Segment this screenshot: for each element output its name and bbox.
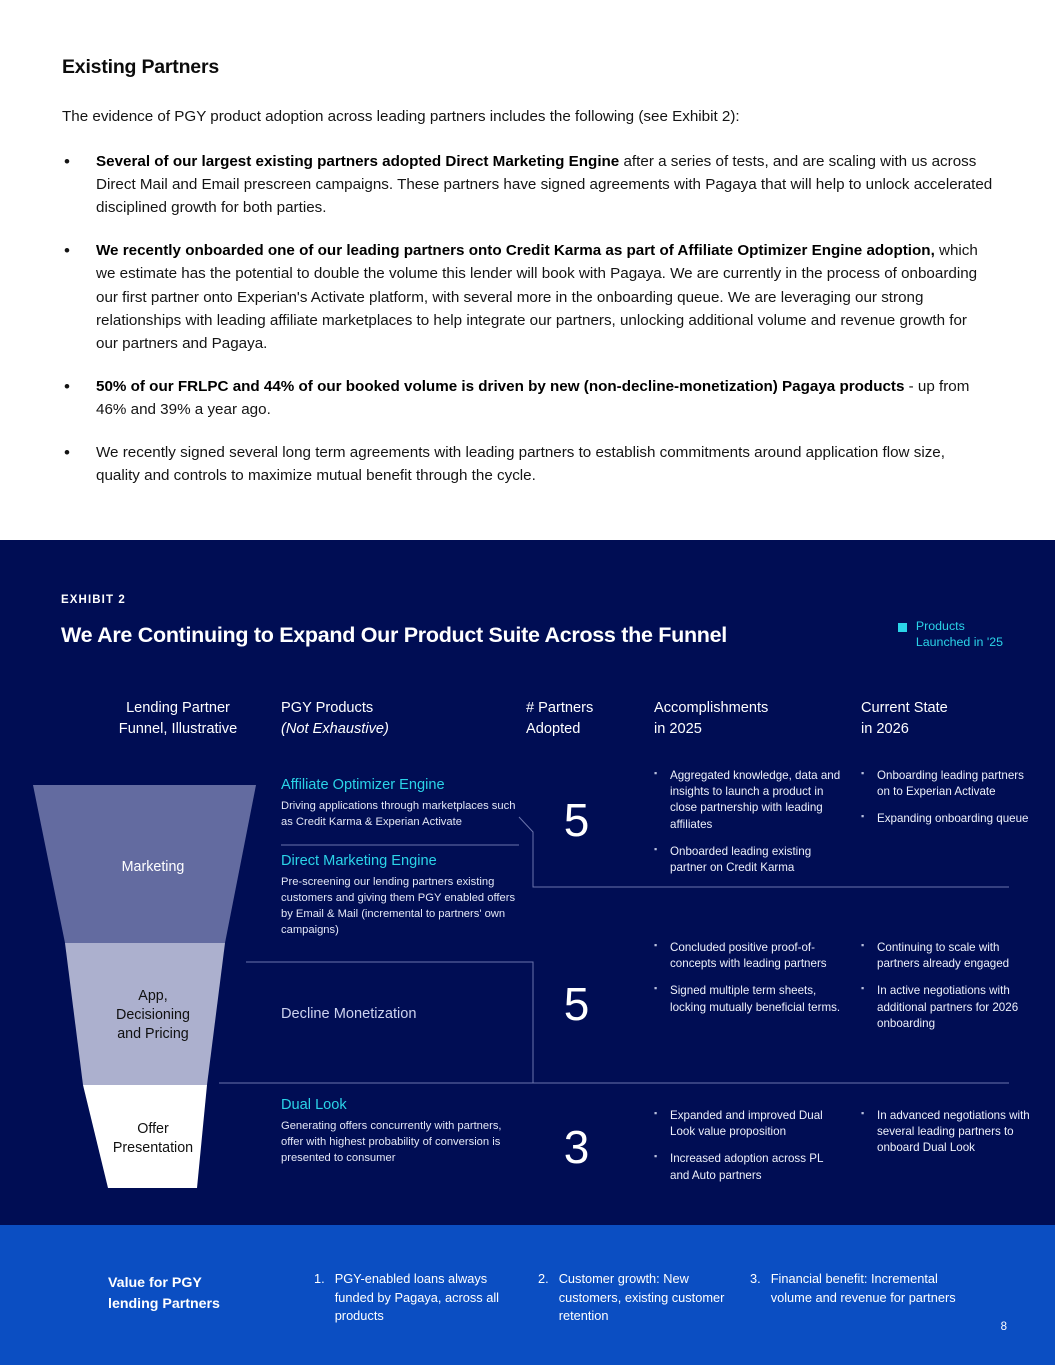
column-header-line2: in 2026 [861, 719, 1051, 740]
value-item-3: 3. Financial benefit: Incremental volume… [750, 1270, 960, 1307]
prose-section: Existing Partners The evidence of PGY pr… [0, 0, 1055, 487]
product-name: Direct Marketing Engine [281, 852, 519, 871]
value-item-number: 1. [314, 1270, 325, 1326]
product-name: Decline Monetization [281, 1005, 519, 1024]
accomplishments-row-1: Aggregated knowledge, data and insights … [654, 768, 844, 887]
funnel-label-marketing: Marketing [60, 858, 246, 877]
list-item: In active negotiations with additional p… [861, 983, 1036, 1032]
product-affiliate-optimizer-engine: Affiliate Optimizer Engine Driving appli… [281, 776, 519, 831]
product-description: Generating offers concurrently with part… [281, 1119, 519, 1167]
bullet-item: We recently onboarded one of our leading… [62, 239, 993, 354]
funnel-label-line: Decisioning [60, 1006, 246, 1025]
list-item: Concluded positive proof-of-concepts wit… [654, 940, 844, 972]
page-number: 8 [1001, 1321, 1007, 1333]
current-state-row-1: Onboarding leading partners on to Experi… [861, 768, 1031, 839]
bullet-text: We recently signed several long term agr… [96, 444, 945, 484]
accomplishments-row-3: Expanded and improved Dual Look value pr… [654, 1108, 844, 1195]
list-item: Increased adoption across PL and Auto pa… [654, 1151, 844, 1183]
bullet-emphasis: We recently onboarded one of our leading… [96, 242, 935, 259]
column-header-line1: Current State [861, 698, 1051, 719]
column-header-products: PGY Products (Not Exhaustive) [281, 698, 511, 741]
column-header-line2: Funnel, Illustrative [88, 719, 268, 740]
legend-line-1: Products [916, 618, 1003, 634]
column-header-line1: Accomplishments [654, 698, 854, 719]
legend-swatch-icon [898, 623, 907, 632]
value-item-text: PGY-enabled loans always funded by Pagay… [335, 1270, 514, 1326]
column-header-funnel: Lending Partner Funnel, Illustrative [88, 698, 268, 741]
product-description: Pre-screening our lending partners exist… [281, 875, 519, 939]
list-item: Aggregated knowledge, data and insights … [654, 768, 844, 833]
value-bar: Value for PGYlending Partners 1. PGY-ena… [0, 1225, 1055, 1365]
funnel-label-line: Marketing [60, 858, 246, 877]
column-header-line1: Lending Partner [88, 698, 268, 719]
bullet-emphasis: 50% of our FRLPC and 44% of our booked v… [96, 378, 904, 395]
list-item: In advanced negotiations with several le… [861, 1108, 1031, 1157]
value-bar-title-line: Value for PGY [108, 1273, 220, 1294]
exhibit-panel: EXHIBIT 2 We Are Continuing to Expand Ou… [0, 540, 1055, 1225]
value-item-number: 3. [750, 1270, 761, 1307]
product-description: Driving applications through marketplace… [281, 799, 519, 831]
product-decline-monetization: Decline Monetization [281, 1005, 519, 1028]
page-title: Existing Partners [62, 56, 993, 79]
bullet-list: Several of our largest existing partners… [62, 150, 993, 487]
exhibit-label: EXHIBIT 2 [61, 594, 126, 606]
list-item: Signed multiple term sheets, locking mut… [654, 983, 844, 1015]
bullet-item: Several of our largest existing partners… [62, 150, 993, 219]
value-item-text: Customer growth: New customers, existing… [559, 1270, 738, 1326]
column-header-accomplishments: Accomplishments in 2025 [654, 698, 854, 741]
current-state-row-2: Continuing to scale with partners alread… [861, 940, 1036, 1043]
funnel-label-offer-presentation: OfferPresentation [60, 1120, 246, 1158]
legend: Products Launched in '25 [898, 618, 1003, 651]
partner-count-row-2: 5 [526, 977, 626, 1031]
value-item-number: 2. [538, 1270, 549, 1326]
column-header-current-state: Current State in 2026 [861, 698, 1051, 741]
value-bar-title-line: lending Partners [108, 1294, 220, 1315]
list-item: Expanding onboarding queue [861, 811, 1031, 827]
value-item-2: 2. Customer growth: New customers, exist… [538, 1270, 738, 1326]
funnel-label-line: Offer [60, 1120, 246, 1139]
list-item: Onboarding leading partners on to Experi… [861, 768, 1031, 800]
intro-paragraph: The evidence of PGY product adoption acr… [62, 106, 993, 128]
product-name: Affiliate Optimizer Engine [281, 776, 519, 795]
accomplishments-row-2: Concluded positive proof-of-concepts wit… [654, 940, 844, 1027]
column-header-line2: Adopted [526, 719, 636, 740]
column-header-line2: (Not Exhaustive) [281, 719, 511, 740]
current-state-row-3: In advanced negotiations with several le… [861, 1108, 1031, 1168]
column-headers: Lending Partner Funnel, Illustrative PGY… [0, 698, 1055, 746]
value-item-1: 1. PGY-enabled loans always funded by Pa… [314, 1270, 514, 1326]
legend-line-2: Launched in '25 [916, 634, 1003, 650]
product-dual-look: Dual Look Generating offers concurrently… [281, 1096, 519, 1167]
partner-count-row-3: 3 [526, 1120, 626, 1174]
column-header-partners-adopted: # Partners Adopted [526, 698, 636, 741]
bullet-item: 50% of our FRLPC and 44% of our booked v… [62, 375, 993, 421]
value-item-text: Financial benefit: Incremental volume an… [771, 1270, 960, 1307]
column-header-line1: # Partners [526, 698, 636, 719]
list-item: Continuing to scale with partners alread… [861, 940, 1036, 972]
list-item: Expanded and improved Dual Look value pr… [654, 1108, 844, 1140]
product-name: Dual Look [281, 1096, 519, 1115]
bullet-emphasis: Several of our largest existing partners… [96, 153, 619, 170]
funnel-label-line: and Pricing [60, 1025, 246, 1044]
list-item: Onboarded leading existing partner on Cr… [654, 844, 844, 876]
funnel-label-line: Presentation [60, 1139, 246, 1158]
document-page: Existing Partners The evidence of PGY pr… [0, 0, 1055, 1365]
funnel-label-line: App, [60, 987, 246, 1006]
column-header-line2: in 2025 [654, 719, 854, 740]
column-header-line1: PGY Products [281, 698, 511, 719]
legend-label: Products Launched in '25 [916, 618, 1003, 651]
product-direct-marketing-engine: Direct Marketing Engine Pre-screening ou… [281, 852, 519, 939]
exhibit-title: We Are Continuing to Expand Our Product … [61, 623, 727, 648]
partner-count-row-1: 5 [526, 793, 626, 847]
value-bar-title: Value for PGYlending Partners [108, 1273, 220, 1314]
bullet-item: We recently signed several long term agr… [62, 441, 993, 487]
funnel-label-app-decisioning: App,Decisioningand Pricing [60, 987, 246, 1044]
